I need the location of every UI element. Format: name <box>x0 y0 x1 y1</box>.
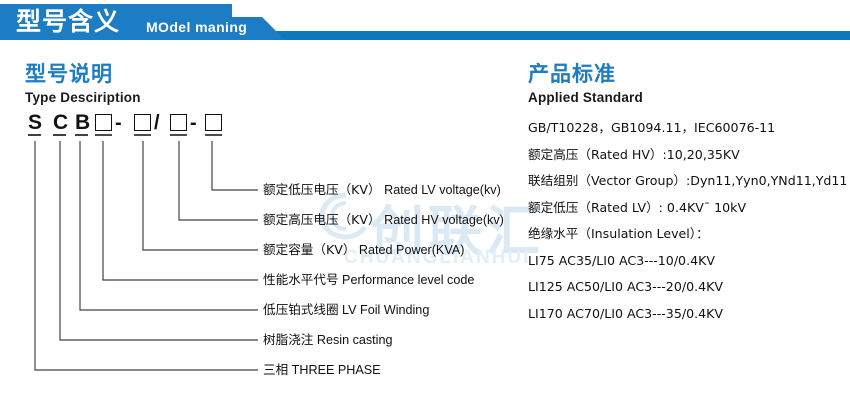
banner-title-en: MOdel maning <box>146 19 247 35</box>
diagram-label: 树脂浇注 Resin casting <box>263 333 392 347</box>
leader-line <box>80 141 258 310</box>
diagram-label-en: Rated HV voltage(kv) <box>381 213 504 227</box>
diagram-label: 性能水平代号 Performance level code <box>263 273 474 287</box>
leader-line <box>103 141 258 280</box>
model-code-char: C <box>53 110 68 136</box>
section-heading-en: Applied Standard <box>528 89 643 107</box>
diagram-label-cn: 性能水平代号 <box>263 272 339 287</box>
standard-line: 联结组别（Vector Group）:Dyn11,Yyn0,YNd11,Yd11 <box>528 173 850 188</box>
diagram-label-en: LV Foil Winding <box>339 303 430 317</box>
section-heading-applied-standard: 产品标准 Applied Standard <box>528 62 643 107</box>
standard-line: LI170 AC70/LI0 AC3---35/0.4KV <box>528 306 850 321</box>
diagram-label-cn: 额定容量（KV） <box>263 242 355 257</box>
leader-line <box>35 141 258 370</box>
model-code-separator: / <box>154 110 160 136</box>
diagram-label-en: Rated Power(KVA) <box>355 243 464 257</box>
section-heading-cn: 产品标准 <box>528 62 643 86</box>
model-code-box <box>205 114 222 131</box>
diagram-label-en: Rated LV voltage(kv) <box>381 183 501 197</box>
diagram-label-en: Resin casting <box>313 333 392 347</box>
diagram-label: 额定高压电压（KV） Rated HV voltage(kv) <box>263 213 504 227</box>
model-code-separator: - <box>190 110 197 136</box>
diagram-label-cn: 额定低压电压（KV） <box>263 182 381 197</box>
banner-title-cn: 型号含义 <box>16 6 120 38</box>
model-code-box <box>95 114 112 131</box>
banner-shape <box>0 0 850 46</box>
model-code-char: S <box>28 110 42 136</box>
diagram-label: 额定低压电压（KV） Rated LV voltage(kv) <box>263 183 501 197</box>
model-code-separator: - <box>115 110 122 136</box>
diagram-label-cn: 树脂浇注 <box>263 332 313 347</box>
standards-list: GB/T10228，GB1094.11，IEC60076-11额定高压（Rate… <box>528 120 850 332</box>
diagram-label-cn: 额定高压电压（KV） <box>263 212 381 227</box>
model-code-row: SCB-/- <box>0 110 260 144</box>
model-code-box <box>134 114 151 131</box>
leader-line <box>212 141 258 190</box>
section-heading-type-description: 型号说明 Type Desciription <box>25 62 141 107</box>
standard-line: 绝缘水平（Insulation Level）： <box>528 226 850 241</box>
page-header-banner: 型号含义 MOdel maning <box>0 0 850 46</box>
section-heading-en: Type Desciription <box>25 89 141 107</box>
diagram-label-cn: 低压铂式线圈 <box>263 302 339 317</box>
standard-line: GB/T10228，GB1094.11，IEC60076-11 <box>528 120 850 135</box>
model-code-char: B <box>75 110 90 136</box>
diagram-label-en: Performance level code <box>339 273 475 287</box>
model-code-box <box>170 114 187 131</box>
standard-line: LI75 AC35/LI0 AC3---10/0.4KV <box>528 253 850 268</box>
standard-line: LI125 AC50/LI0 AC3---20/0.4KV <box>528 279 850 294</box>
section-heading-cn: 型号说明 <box>25 62 141 86</box>
standard-line: 额定高压（Rated HV）:10,20,35KV <box>528 147 850 162</box>
diagram-label: 低压铂式线圈 LV Foil Winding <box>263 303 429 317</box>
diagram-label-en: THREE PHASE <box>288 363 380 377</box>
leader-line <box>179 141 258 220</box>
model-code-diagram: SCB-/- 额定低压电压（KV） Rated LV voltage(kv)额定… <box>0 110 520 390</box>
standard-line: 额定低压（Rated LV）: 0.4KV¯ 10kV <box>528 200 850 215</box>
leader-line <box>143 141 258 250</box>
diagram-label: 额定容量（KV） Rated Power(KVA) <box>263 243 464 257</box>
diagram-label-cn: 三相 <box>263 362 288 377</box>
diagram-label: 三相 THREE PHASE <box>263 363 381 377</box>
